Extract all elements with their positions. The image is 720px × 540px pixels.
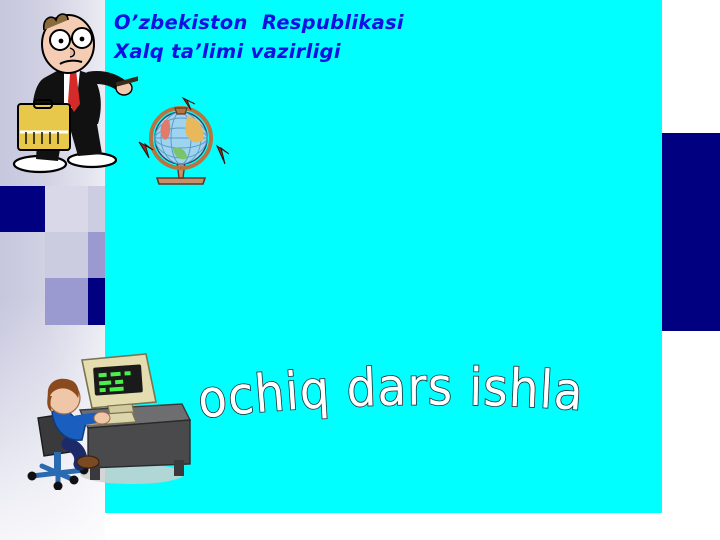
teacher-with-pointer-clipart xyxy=(6,4,138,179)
decor-square-lavender-light-a xyxy=(45,186,88,232)
decor-square-lavender-light-b xyxy=(88,186,105,232)
title-line-2: Xalq ta’limi vazirligi xyxy=(114,37,634,66)
right-navy-accent-bar xyxy=(662,133,720,331)
decor-square-navy-top-left xyxy=(0,186,45,232)
decor-square-purple-b xyxy=(45,278,88,325)
presentation-slide: O’zbekiston Respublikasi Xalq ta’limi va… xyxy=(0,0,720,540)
globe-on-stand-clipart xyxy=(133,96,229,188)
slide-title: O’zbekiston Respublikasi Xalq ta’limi va… xyxy=(114,8,634,66)
title-line-1: O’zbekiston Respublikasi xyxy=(114,8,634,37)
decor-square-navy-bottom-right xyxy=(88,278,105,325)
decor-square-lavender-mid xyxy=(45,232,88,278)
person-at-computer-clipart xyxy=(24,348,194,490)
decor-square-purple-a xyxy=(88,232,105,278)
